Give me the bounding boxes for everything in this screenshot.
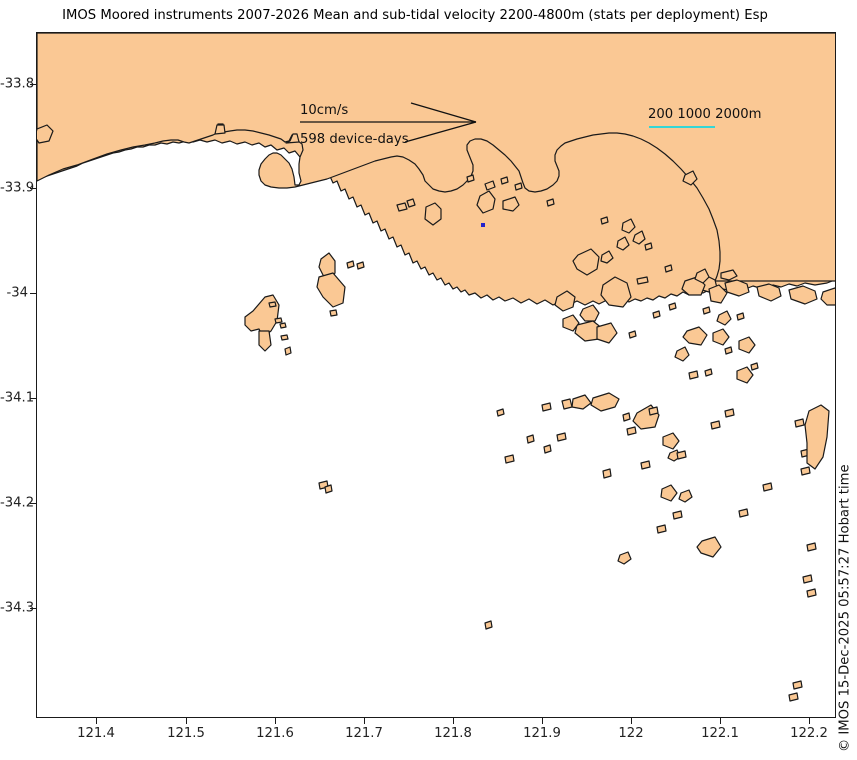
y-tick-label: -33.8 [0,77,28,92]
y-tick-label: -34 [0,286,28,301]
y-tick-mark [30,188,36,189]
x-tick-mark [364,718,365,724]
x-tick-mark [275,718,276,724]
x-tick-mark [809,718,810,724]
x-tick-label: 121.5 [167,726,205,741]
y-tick-mark [30,398,36,399]
credit-block: © IMOS 15-Dec-2025 05:57:27 Hobart time [832,0,857,760]
credit-text: © IMOS 15-Dec-2025 05:57:27 Hobart time [838,464,853,752]
y-tick-mark [30,293,36,294]
x-tick-label: 122.1 [701,726,739,741]
x-tick-label: 121.7 [345,726,383,741]
x-tick-label: 122.2 [790,726,828,741]
y-tick-mark [30,84,36,85]
x-tick-mark [96,718,97,724]
x-tick-label: 122 [618,726,643,741]
y-tick-mark [30,503,36,504]
x-tick-mark [542,718,543,724]
y-axis: -33.8 -33.9 -34 -34.1 -34.2 -34.3 [0,0,857,760]
x-tick-label: 121.9 [523,726,561,741]
x-tick-mark [720,718,721,724]
y-tick-mark [30,608,36,609]
y-tick-label: -34.1 [0,391,28,406]
x-tick-label: 121.8 [434,726,472,741]
x-tick-label: 121.4 [77,726,115,741]
x-tick-mark [453,718,454,724]
y-tick-label: -34.2 [0,496,28,511]
x-tick-label: 121.6 [256,726,294,741]
x-tick-mark [186,718,187,724]
x-tick-mark [631,718,632,724]
y-tick-label: -34.3 [0,601,28,616]
y-tick-label: -33.9 [0,181,28,196]
map-figure: IMOS Moored instruments 2007-2026 Mean a… [0,0,857,760]
